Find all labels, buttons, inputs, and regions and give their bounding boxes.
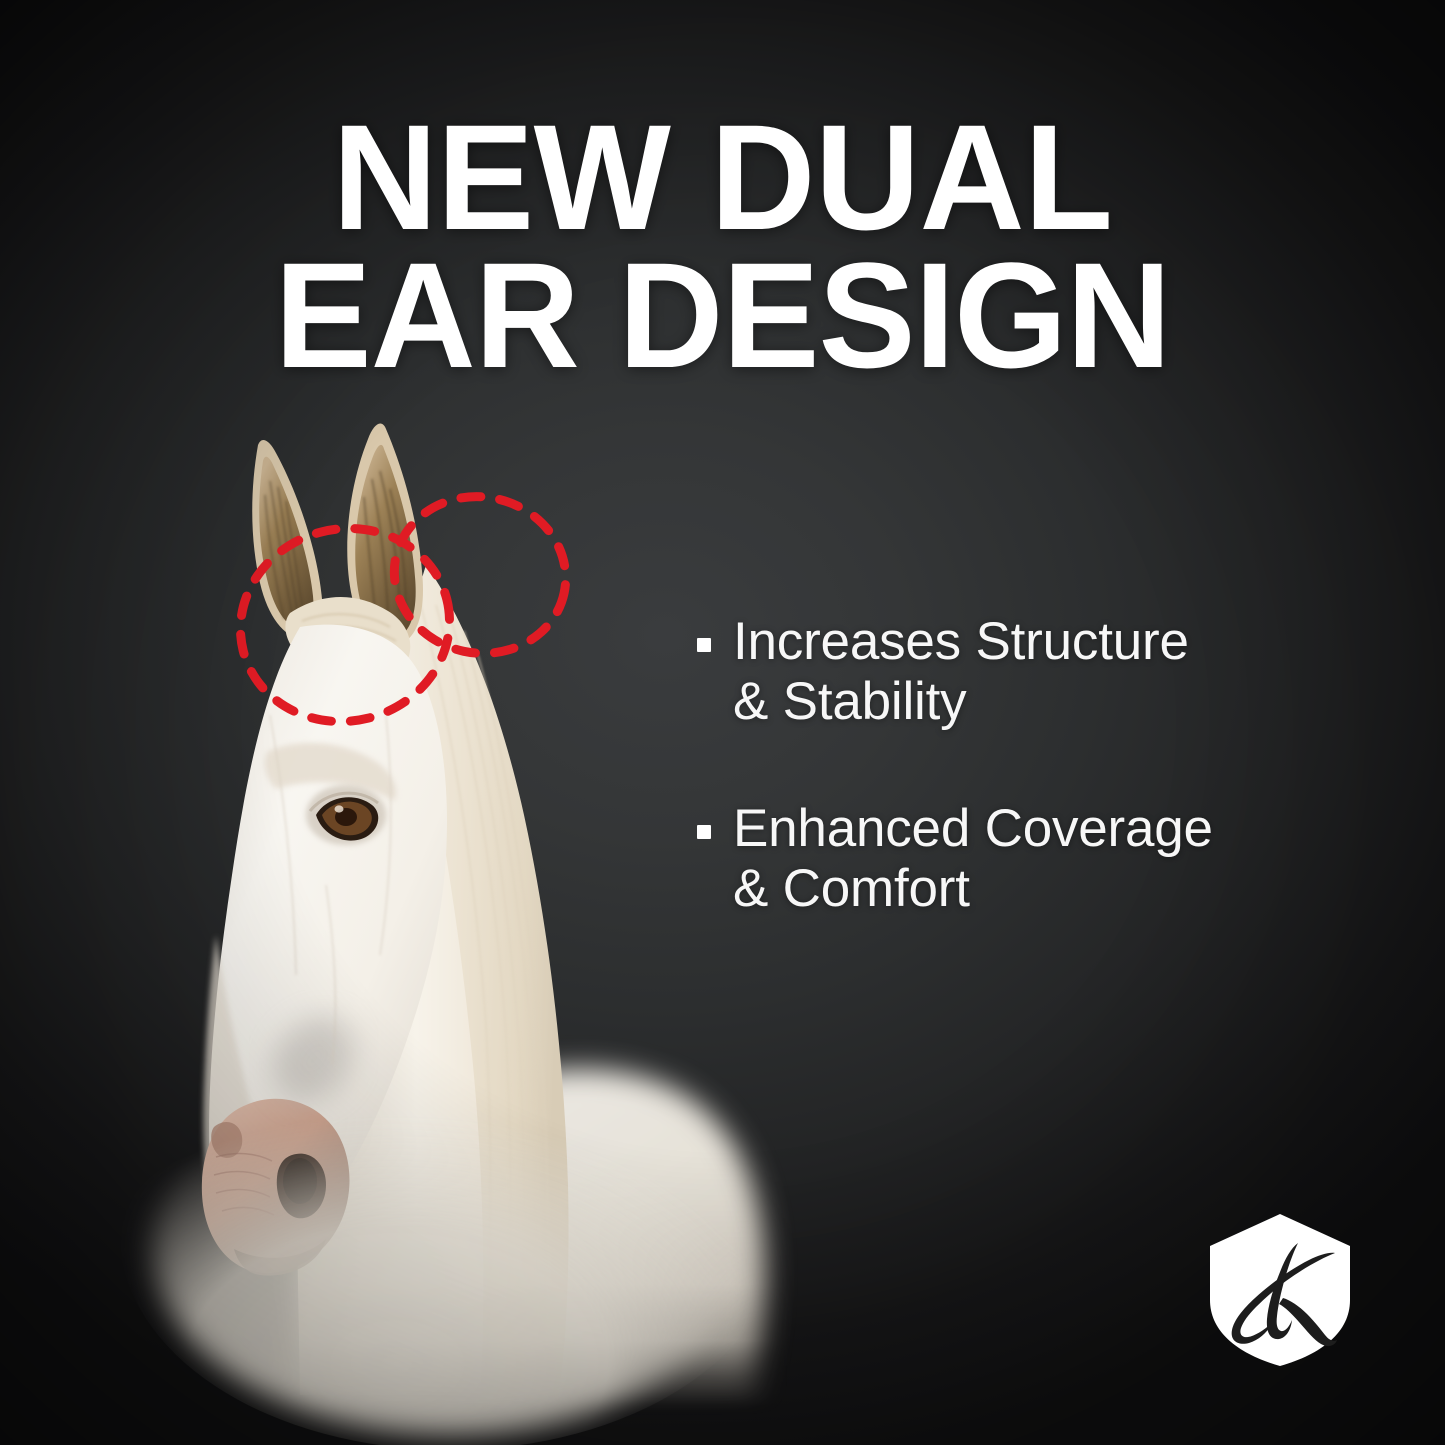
feature-text-2: Enhanced Coverage & Comfort (733, 799, 1213, 920)
headline-line-1: NEW DUAL (22, 108, 1424, 246)
promo-image-canvas: NEW DUAL EAR DESIGN Increases Structure … (0, 0, 1445, 1445)
page-title: NEW DUAL EAR DESIGN (22, 108, 1424, 384)
brand-logo (1204, 1212, 1356, 1368)
feature-list: Increases Structure & Stability Enhanced… (697, 612, 1377, 920)
shield-k-logo-icon (1204, 1212, 1356, 1368)
list-item: Increases Structure & Stability (697, 612, 1377, 733)
headline-line-2: EAR DESIGN (22, 246, 1424, 384)
square-bullet-icon (697, 825, 711, 839)
feature-text-1: Increases Structure & Stability (733, 612, 1189, 733)
square-bullet-icon (697, 638, 711, 652)
list-item: Enhanced Coverage & Comfort (697, 799, 1377, 920)
